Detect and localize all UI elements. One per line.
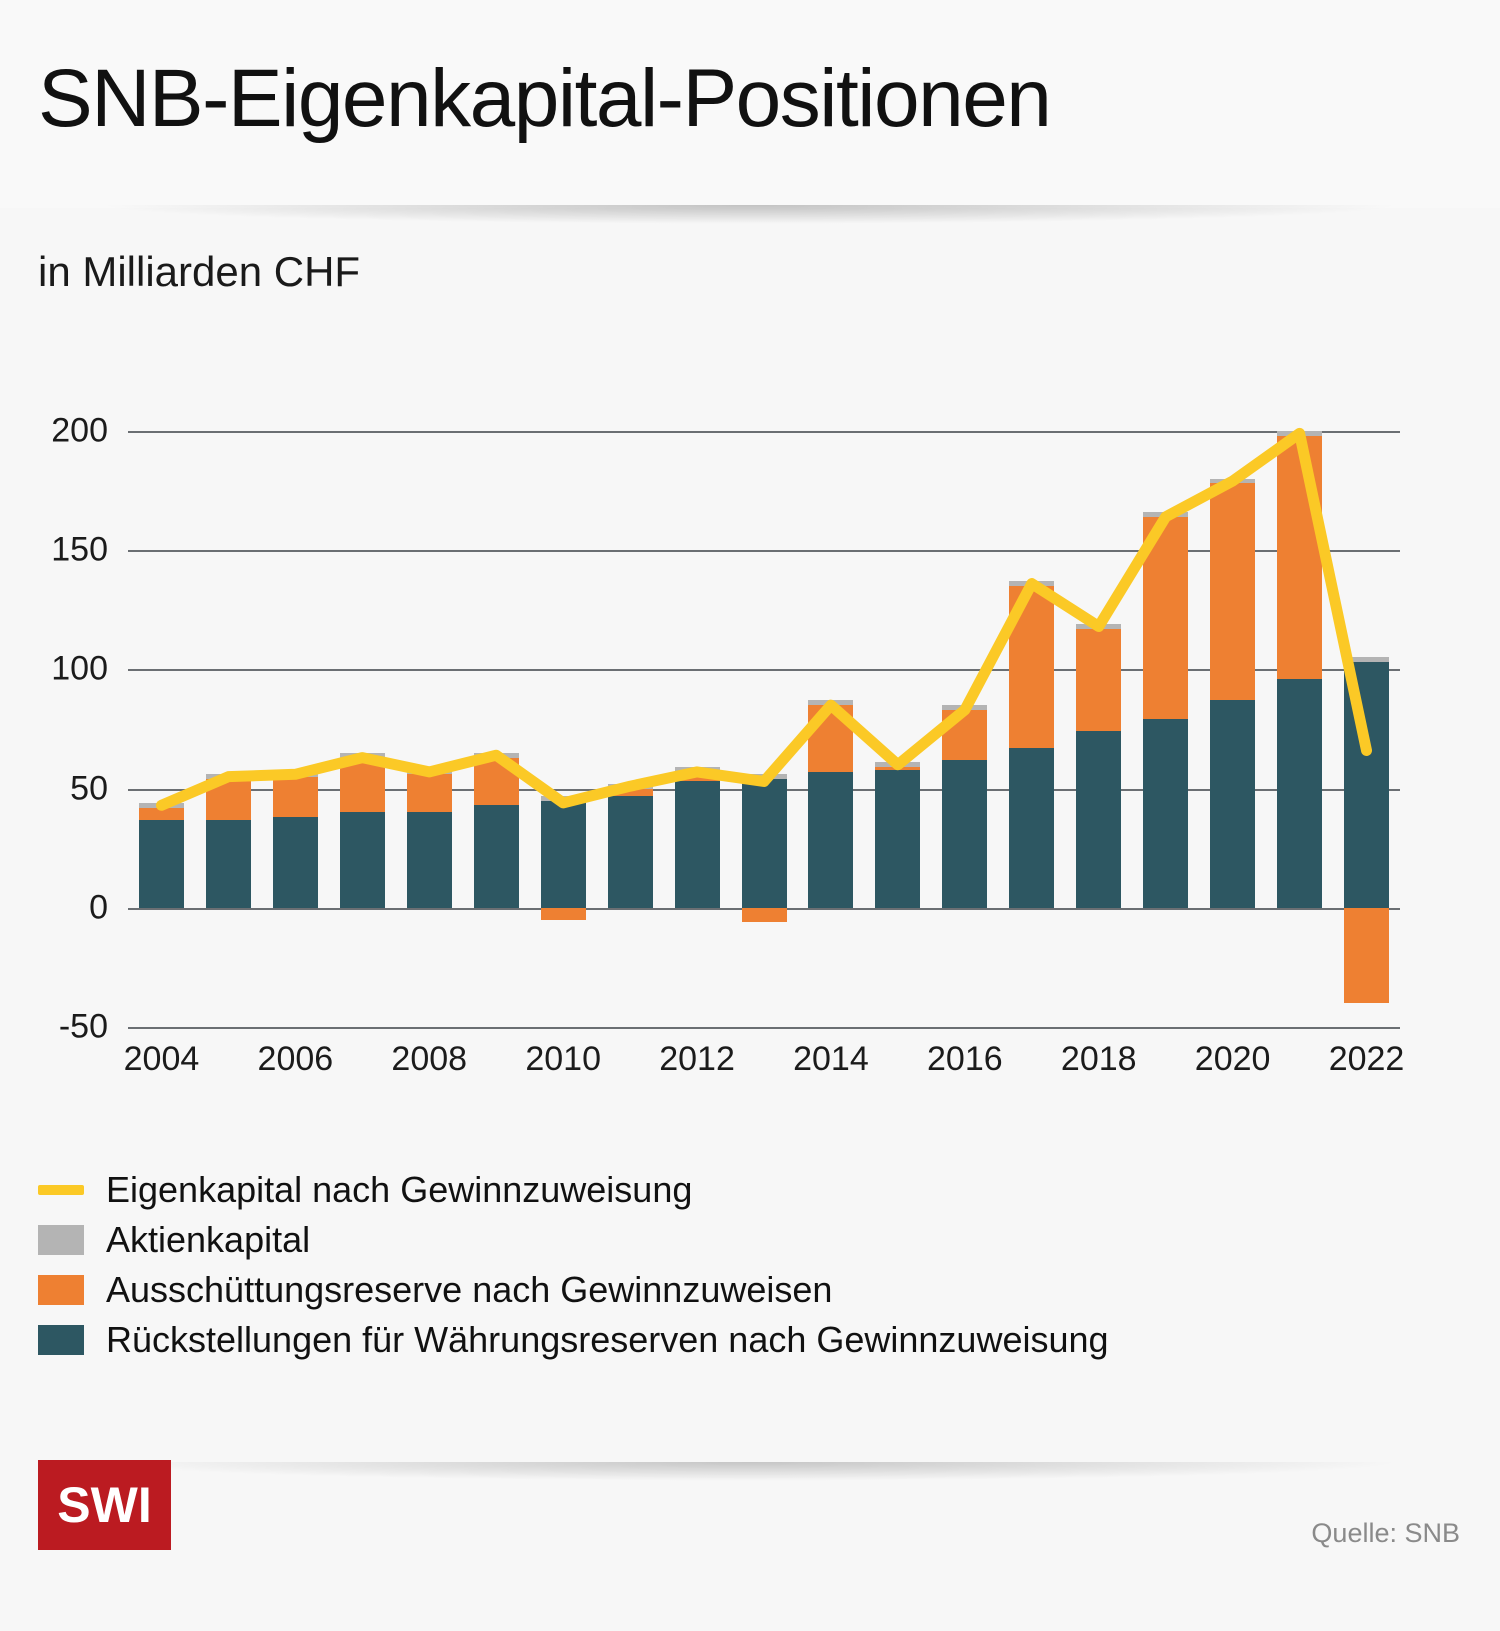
footer-shadow — [0, 1462, 1500, 1488]
page-title: SNB-Eigenkapital-Positionen — [38, 52, 1050, 146]
chart-area — [0, 390, 1500, 1090]
plot-region — [128, 431, 1400, 1027]
infographic-page: SNB-Eigenkapital-Positionen in Milliarde… — [0, 0, 1500, 1631]
legend-item[interactable]: Rückstellungen für Währungsreserven nach… — [38, 1318, 1338, 1362]
source-note: Quelle: SNB — [1311, 1518, 1460, 1549]
header: SNB-Eigenkapital-Positionen — [0, 0, 1500, 208]
x-axis-tick-label: 2018 — [1061, 1040, 1137, 1079]
legend-square-swatch-icon — [38, 1275, 84, 1305]
legend-item-label: Eigenkapital nach Gewinnzuweisung — [106, 1169, 692, 1211]
x-axis-tick-label: 2004 — [124, 1040, 200, 1079]
x-axis-tick-label: 2016 — [927, 1040, 1003, 1079]
x-axis-labels: 2004200620082010201220142016201820202022 — [128, 1040, 1400, 1090]
gridline — [128, 1027, 1400, 1029]
legend-item-label: Aktienkapital — [106, 1219, 310, 1261]
legend-item[interactable]: Aktienkapital — [38, 1218, 1338, 1262]
x-axis-tick-label: 2012 — [659, 1040, 735, 1079]
swi-logo-text: SWI — [57, 1476, 151, 1534]
legend-square-swatch-icon — [38, 1325, 84, 1355]
legend-item-label: Ausschüttungsreserve nach Gewinnzuweisen — [106, 1269, 832, 1311]
x-axis-tick-label: 2008 — [391, 1040, 467, 1079]
chart-legend: Eigenkapital nach GewinnzuweisungAktienk… — [38, 1168, 1338, 1368]
equity-line — [161, 433, 1366, 805]
x-axis-tick-label: 2006 — [258, 1040, 334, 1079]
legend-item[interactable]: Eigenkapital nach Gewinnzuweisung — [38, 1168, 1338, 1212]
x-axis-tick-label: 2014 — [793, 1040, 869, 1079]
legend-item-label: Rückstellungen für Währungsreserven nach… — [106, 1319, 1109, 1361]
swi-logo[interactable]: SWI — [38, 1460, 171, 1550]
line-series — [128, 431, 1400, 1027]
legend-square-swatch-icon — [38, 1225, 84, 1255]
x-axis-tick-label: 2022 — [1329, 1040, 1405, 1079]
legend-item[interactable]: Ausschüttungsreserve nach Gewinnzuweisen — [38, 1268, 1338, 1312]
header-shadow — [0, 205, 1500, 231]
x-axis-tick-label: 2020 — [1195, 1040, 1271, 1079]
legend-line-swatch-icon — [38, 1185, 84, 1195]
chart-subtitle: in Milliarden CHF — [38, 248, 360, 296]
x-axis-tick-label: 2010 — [525, 1040, 601, 1079]
